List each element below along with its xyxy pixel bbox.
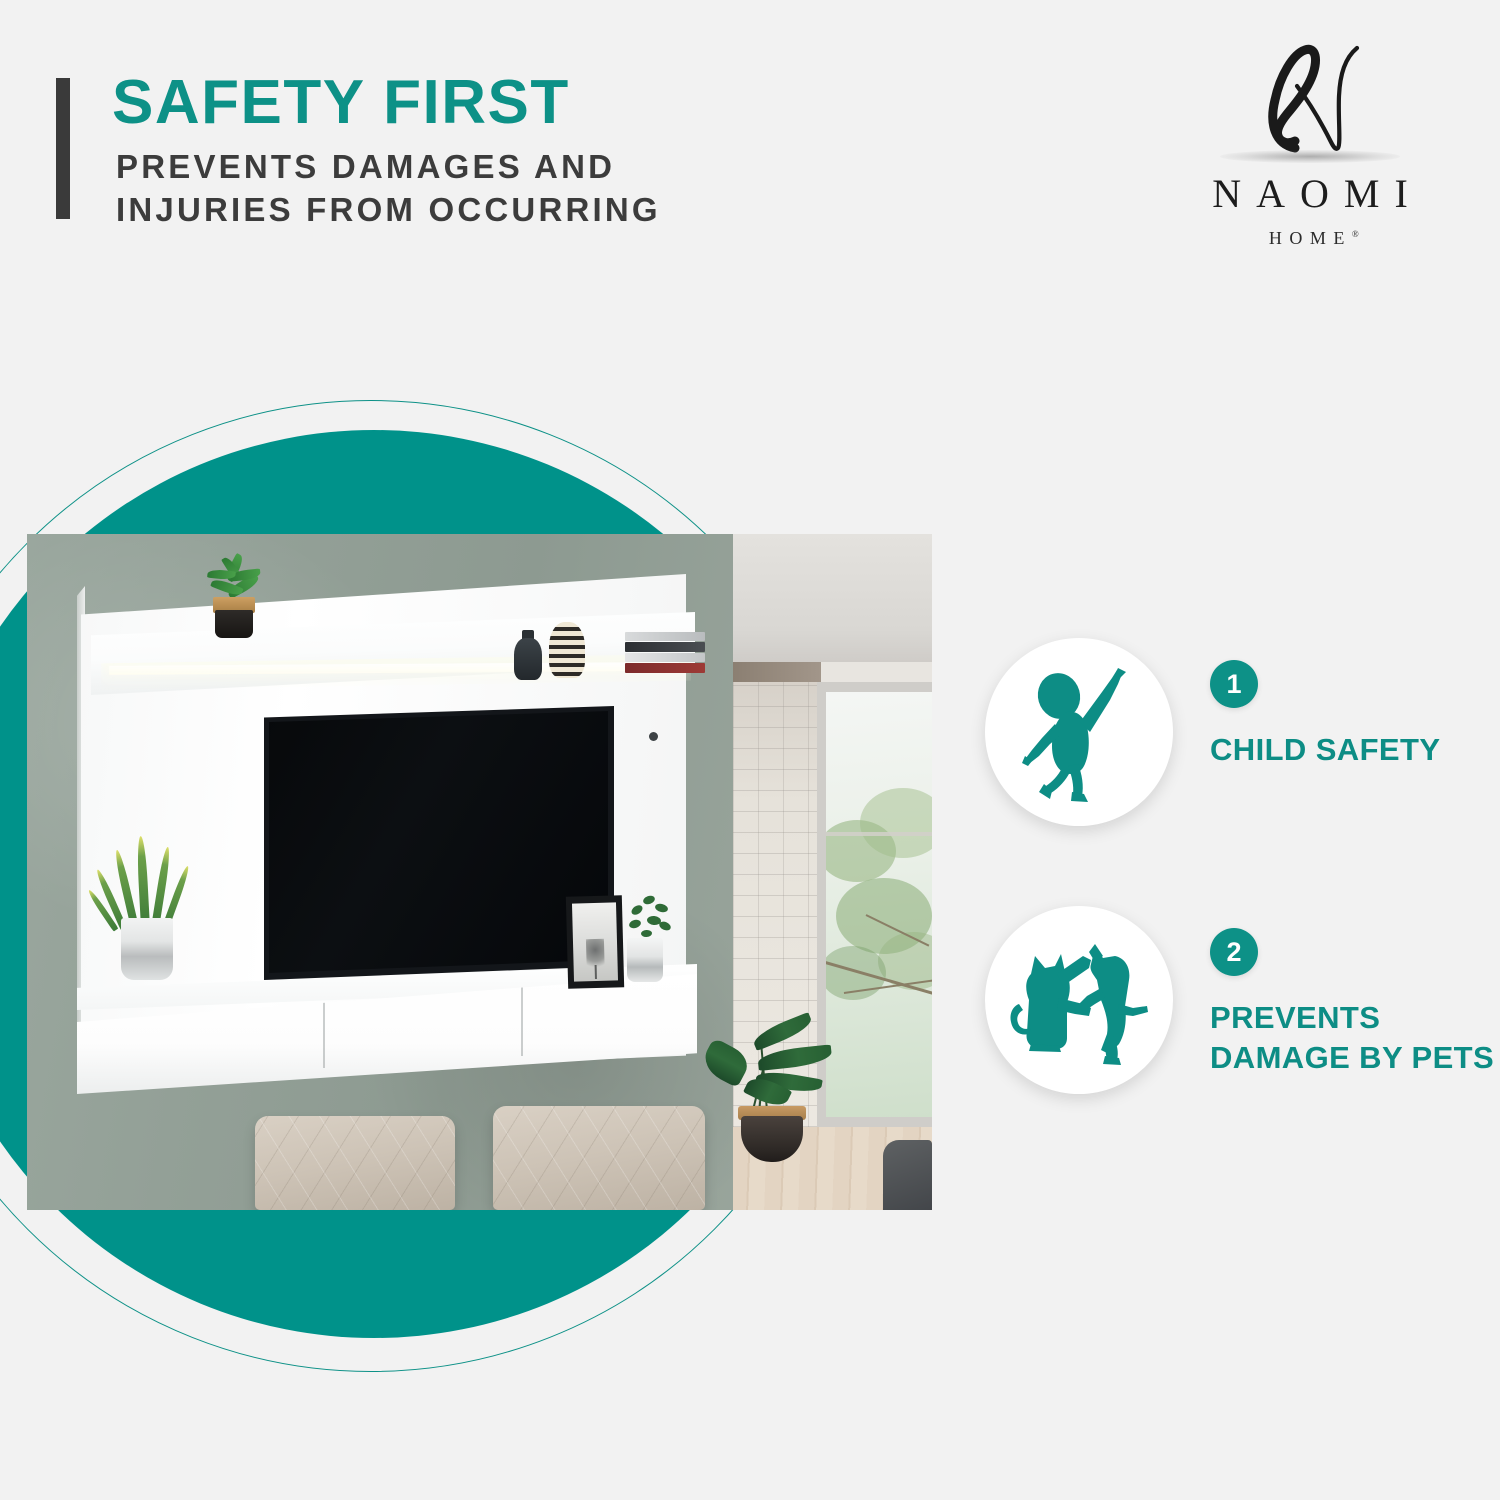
snake-plant <box>107 834 193 930</box>
feature-item-prevents-damage-by-pets: 2 PREVENTS DAMAGE BY PETS <box>985 906 1485 1094</box>
feature-label: CHILD SAFETY <box>1210 730 1500 770</box>
cat-and-dog-icon <box>985 906 1173 1094</box>
feature-text-prevents-damage-by-pets: 2 PREVENTS DAMAGE BY PETS <box>1210 928 1500 1077</box>
feature-text-child-safety: 1 CHILD SAFETY <box>1210 660 1500 770</box>
tv-screen <box>269 711 608 973</box>
product-photo <box>27 534 932 1210</box>
feature-label-line-1: PREVENTS <box>1210 998 1500 1038</box>
feature-label-line-1: CHILD SAFETY <box>1210 730 1500 770</box>
window-glass <box>826 692 932 1117</box>
page-title: SAFETY FIRST <box>112 72 832 134</box>
headline-block: SAFETY FIRST PREVENTS DAMAGES AND INJURI… <box>112 72 832 232</box>
snake-plant-pot <box>121 918 173 980</box>
header: SAFETY FIRST PREVENTS DAMAGES AND INJURI… <box>0 0 1500 270</box>
feature-label: PREVENTS DAMAGE BY PETS <box>1210 998 1500 1077</box>
child-jumping-icon <box>985 638 1173 826</box>
art-tree-trunk <box>595 965 597 979</box>
window-mullion <box>826 832 932 836</box>
trademark-symbol: ® <box>1352 229 1359 239</box>
book-stack <box>625 632 705 674</box>
feature-list: 1 CHILD SAFETY <box>985 638 1485 1174</box>
subtitle-line-2: INJURIES FROM OCCURRING <box>116 189 832 232</box>
naomi-n-monogram-icon <box>1155 40 1465 165</box>
dark-vase <box>514 638 542 680</box>
feature-item-child-safety: 1 CHILD SAFETY <box>985 638 1485 826</box>
feature-number-badge: 2 <box>1210 928 1258 976</box>
feature-number-badge: 1 <box>1210 660 1258 708</box>
ottoman-right <box>493 1106 705 1210</box>
page-subtitle: PREVENTS DAMAGES AND INJURIES FROM OCCUR… <box>116 146 832 232</box>
brand-logo: NAOMI HOME® <box>1155 40 1465 255</box>
logo-subwordmark: HOME® <box>1155 228 1465 249</box>
brick-header-beam <box>733 662 821 682</box>
ceiling <box>733 534 932 662</box>
small-plant-pot <box>627 938 663 982</box>
subtitle-line-1: PREVENTS DAMAGES AND <box>116 146 832 189</box>
logo-sub-text: HOME <box>1269 228 1352 248</box>
ottoman-left <box>255 1116 455 1210</box>
logo-shadow <box>1220 150 1400 163</box>
feature-label-line-2: DAMAGE BY PETS <box>1210 1038 1500 1078</box>
logo-wordmark: NAOMI <box>1155 174 1465 214</box>
framed-art-image <box>572 902 618 981</box>
panel-knob <box>649 732 658 741</box>
title-accent-bar <box>56 78 70 219</box>
sofa-corner <box>883 1140 932 1210</box>
striped-vase <box>549 622 585 678</box>
plant-pot-small <box>215 610 253 638</box>
